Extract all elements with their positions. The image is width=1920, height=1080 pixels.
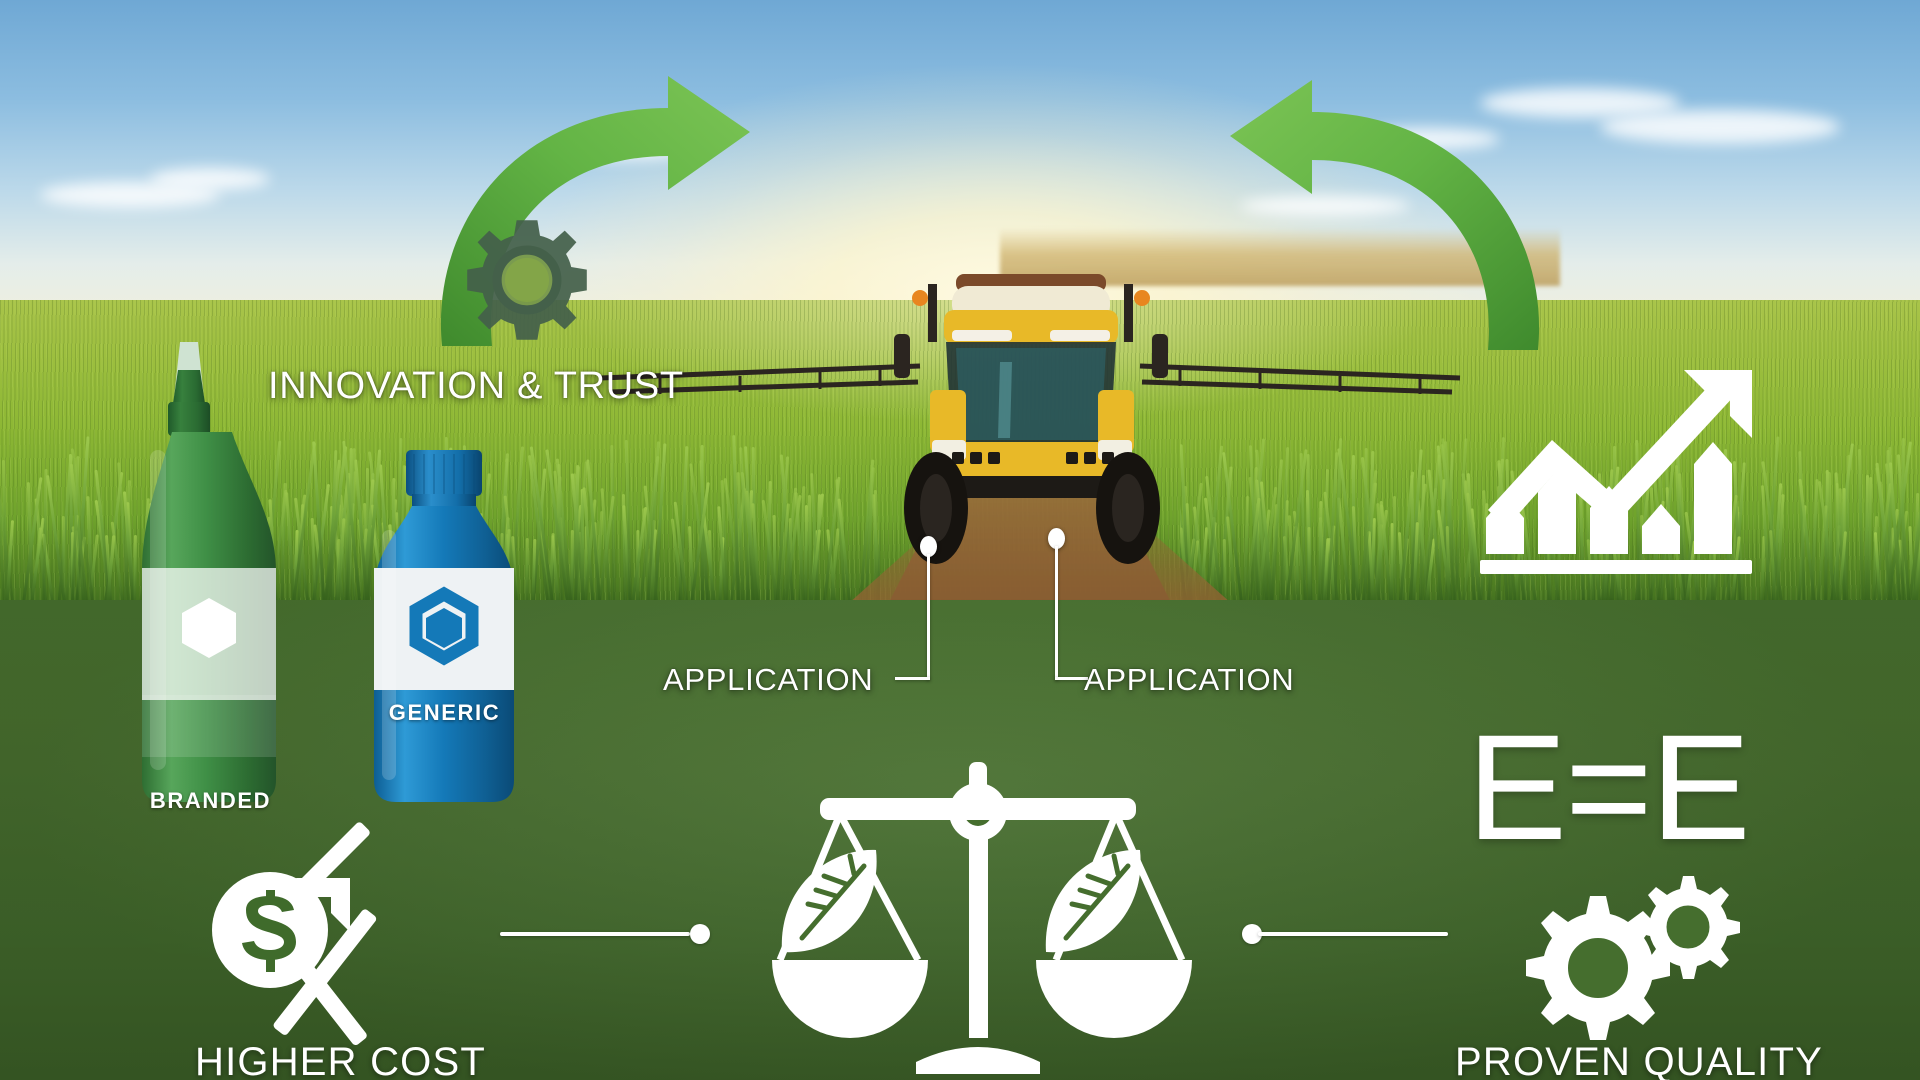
connector-line-right — [1258, 932, 1448, 936]
bottle-label-branded: BRANDED — [128, 788, 293, 814]
innovation-trust-label: INNOVATION & TRUST — [268, 365, 684, 408]
application-label-right: APPLICATION — [1084, 662, 1294, 698]
cloud — [150, 168, 270, 190]
proven-quality-label: PROVEN QUALITY — [1455, 1040, 1823, 1080]
product-bottle-generic[interactable]: GENERIC — [362, 450, 527, 810]
connector-line-left — [500, 932, 690, 936]
cane-stalk — [1393, 496, 1397, 610]
connector-dot-left — [690, 924, 710, 944]
cane-stalk — [1857, 449, 1863, 610]
application-label-left: APPLICATION — [663, 662, 873, 698]
callout-stem-right — [1055, 546, 1058, 680]
agricultural-sprayer-photo — [860, 270, 1200, 560]
curved-arrow-left-icon — [1200, 60, 1580, 360]
product-bottle-branded[interactable]: BRANDED — [128, 340, 293, 810]
cane-stalk — [1308, 527, 1311, 610]
callout-foot-left — [895, 677, 930, 680]
balance-scale-leaves-icon — [758, 756, 1208, 1080]
infographic-canvas: INNOVATION & TRUST COST-EFFECTENCES & — [0, 0, 1920, 1080]
equivalence-symbol: E=E — [1467, 712, 1749, 862]
cane-stalk — [611, 445, 617, 610]
bottle-label-generic: GENERIC — [362, 700, 527, 726]
gears-icon — [1498, 866, 1748, 1050]
gear-icon — [462, 215, 592, 345]
higher-cost-label: HIGHER COST — [195, 1040, 486, 1080]
cloud — [1600, 110, 1840, 144]
callout-stem-left — [927, 554, 930, 680]
dollar-cross-arrows-icon — [200, 858, 450, 1058]
growth-bar-chart-arrow-icon — [1480, 368, 1760, 588]
